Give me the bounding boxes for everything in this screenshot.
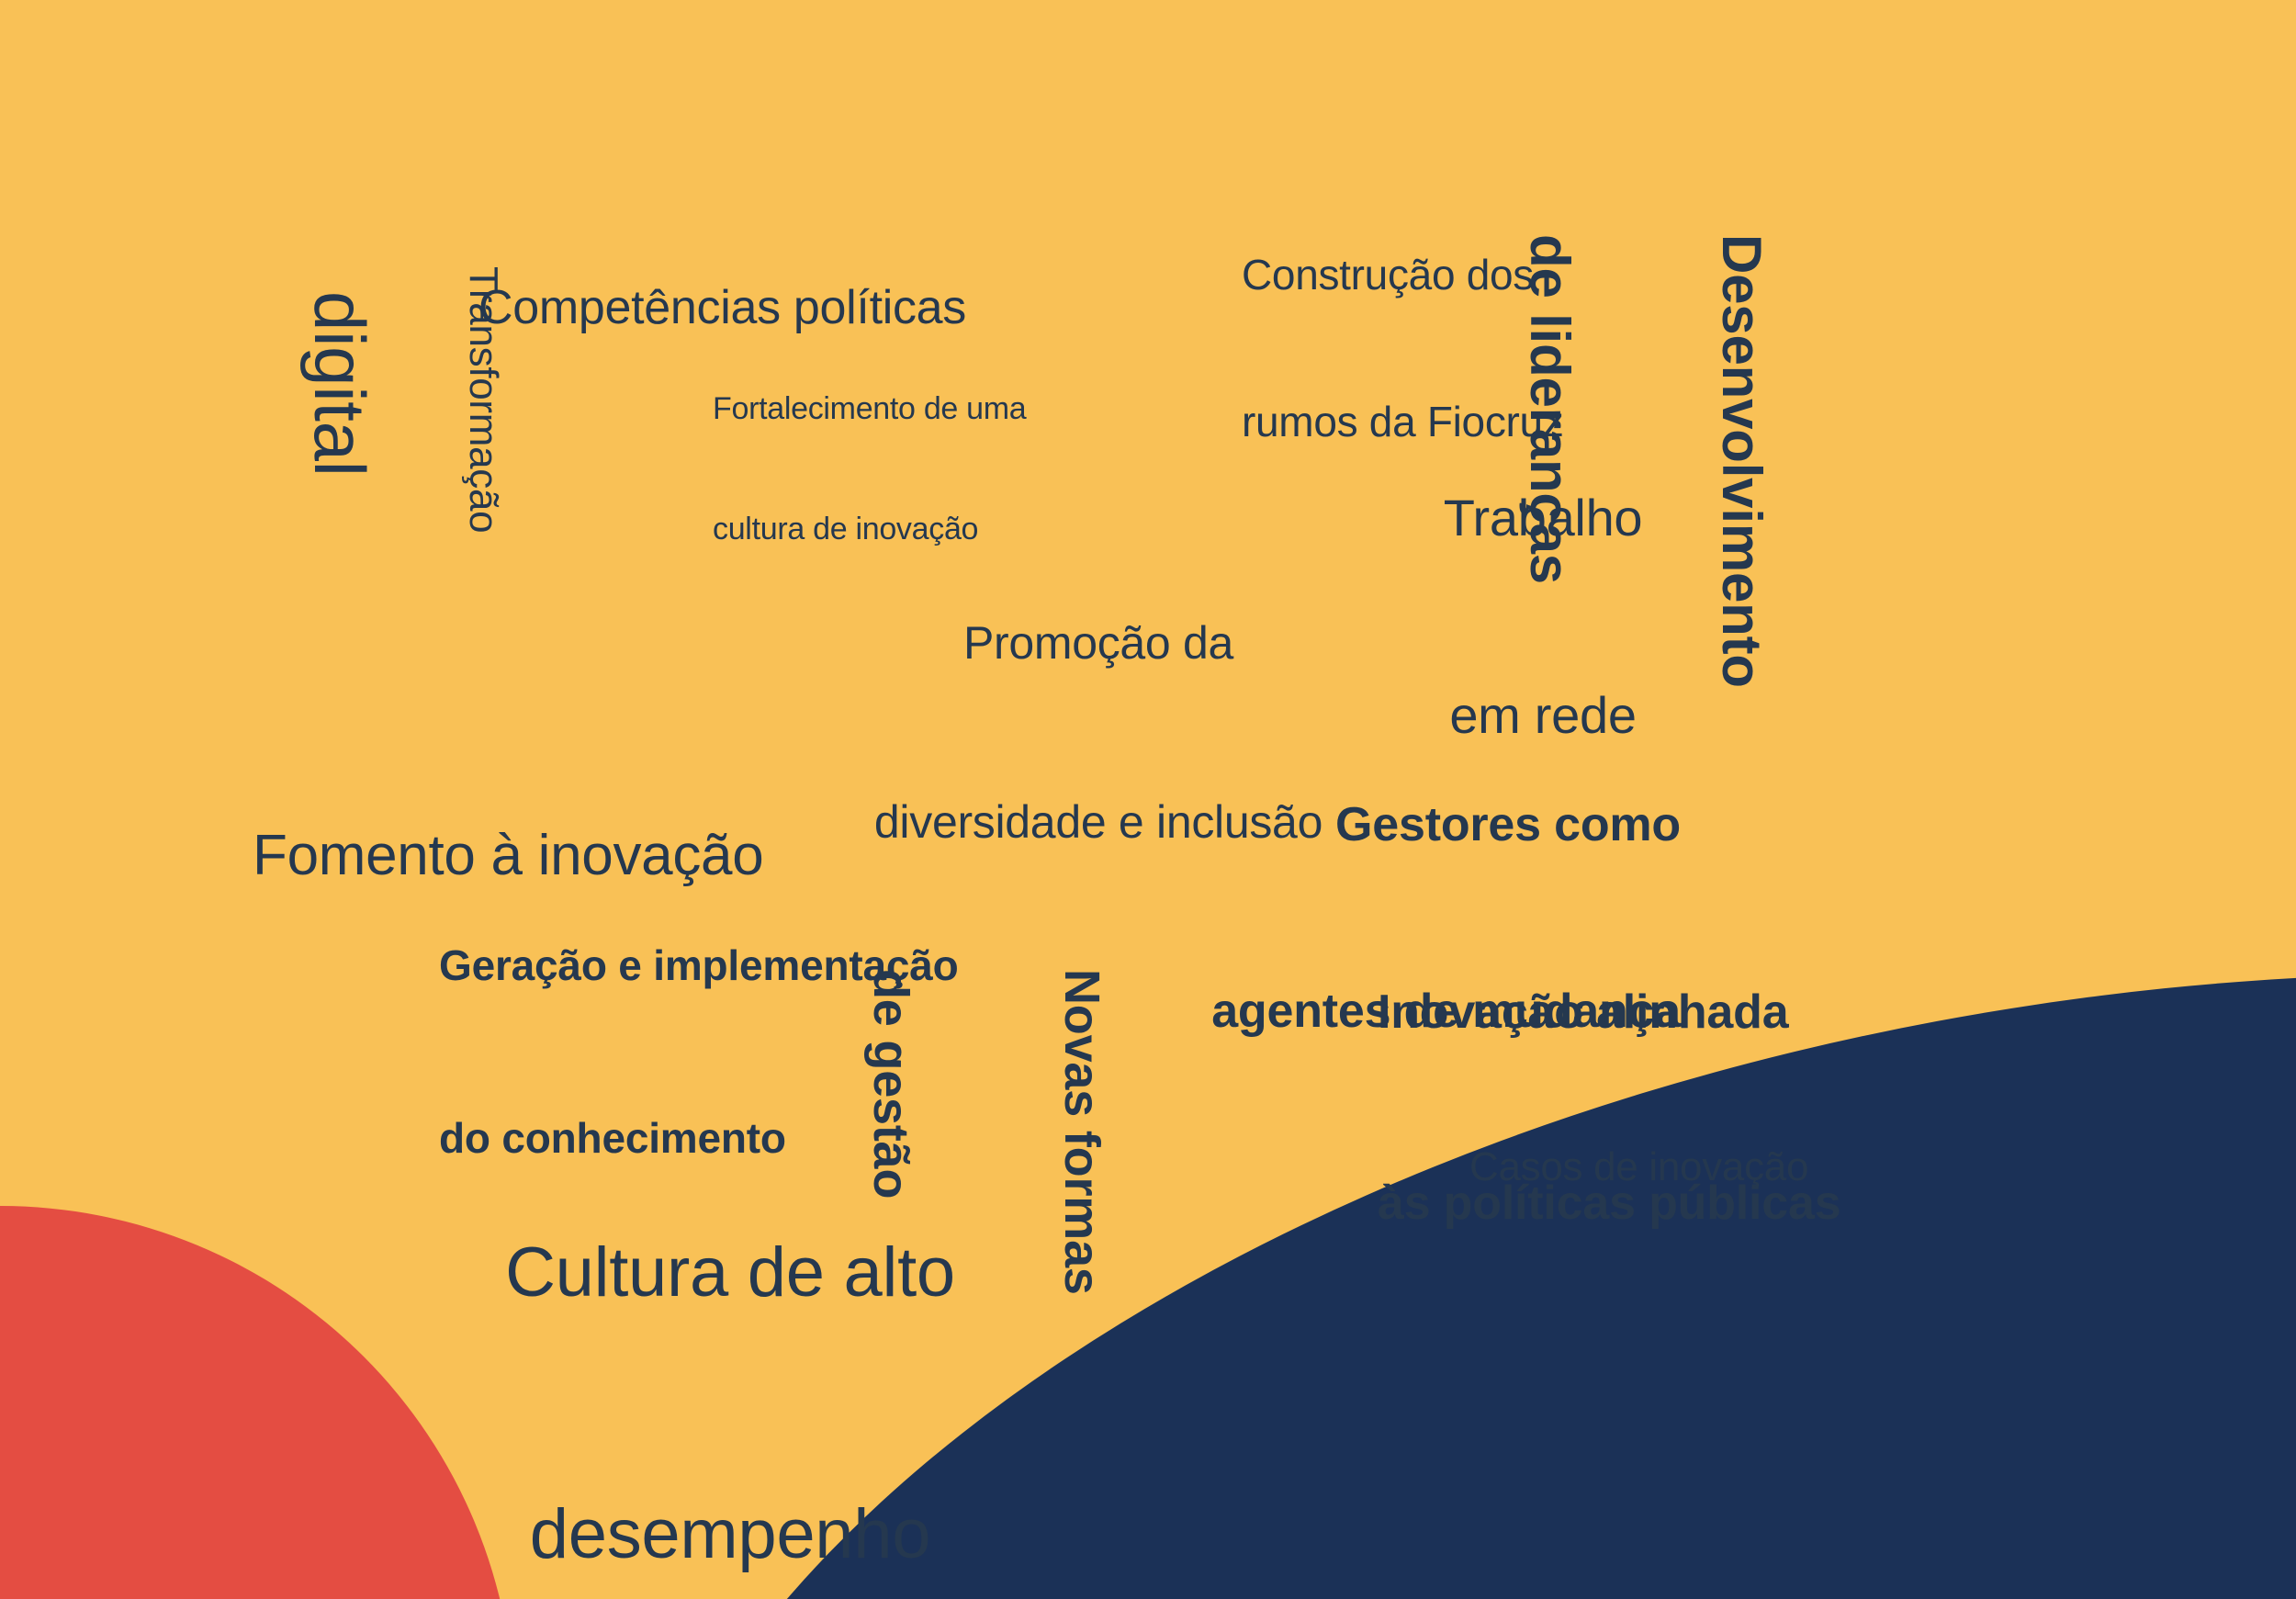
word-line: Cultura de alto — [450, 1229, 1010, 1316]
word-line: Trabalho — [1419, 485, 1667, 551]
word-line: Casos de inovação — [1469, 1143, 1808, 1190]
word-cloud-poster: Competências políticas Construção dos ru… — [0, 0, 2296, 1599]
word-cultura-alto-desempenho: Cultura de alto desempenho — [450, 1054, 1010, 1599]
word-casos-de-inovacao: Casos de inovação — [1469, 1050, 1808, 1284]
word-line: digital — [298, 291, 381, 477]
word-line: Desenvolvimento — [1709, 234, 1773, 688]
word-line: Novas formas — [1050, 969, 1113, 1295]
word-line: Inovação alinhada — [1378, 981, 1840, 1044]
red-circle-decoration — [0, 1206, 514, 1599]
word-line: Gestores como — [1056, 794, 1681, 857]
word-digital: digital — [132, 291, 547, 477]
word-line: desempenho — [450, 1491, 1010, 1578]
word-line: Fortalecimento de uma — [713, 389, 1026, 430]
word-line: Promoção da — [836, 614, 1361, 673]
